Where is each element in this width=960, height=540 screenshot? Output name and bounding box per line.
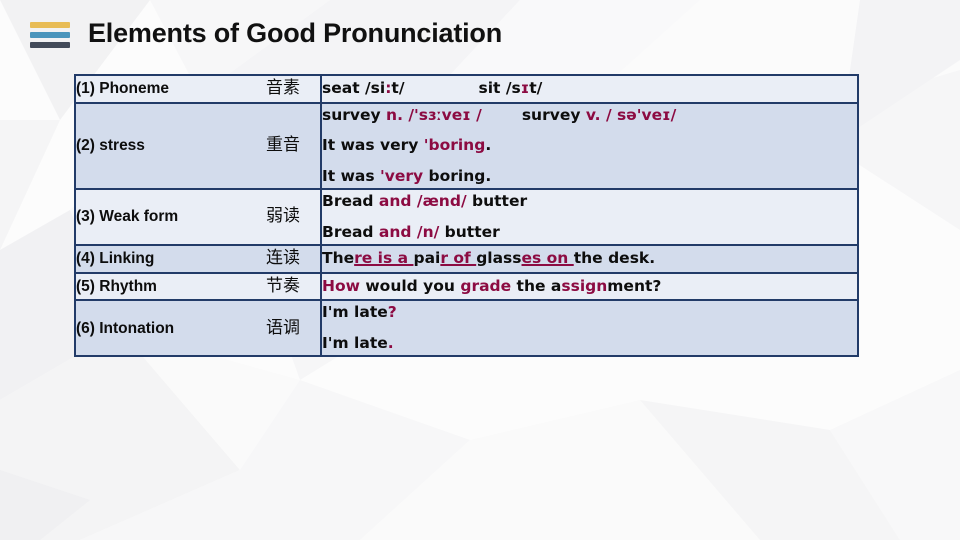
- plain-text: The: [322, 249, 354, 267]
- example-line: It was very 'boring.: [322, 134, 857, 158]
- row-label-chinese: 连读: [266, 246, 320, 272]
- plain-text: pai: [413, 249, 440, 267]
- table-row: (2) stress重音survey n. /'sɜːveɪ /survey v…: [75, 103, 858, 190]
- row-label-cell: (5) Rhythm节奏: [75, 273, 321, 301]
- row-example-cell: survey n. /'sɜːveɪ /survey v. / sə'veɪ/I…: [321, 103, 858, 190]
- plain-text: the desk.: [574, 249, 655, 267]
- plain-text: survey: [522, 106, 586, 124]
- linking-underline-text: es on: [522, 249, 574, 267]
- table-row: (4) Linking连读There is a pair of glasses …: [75, 245, 858, 273]
- example-line: seat /si:t/sit /sɪt/: [322, 77, 857, 101]
- row-label-english: (3) Weak form: [76, 205, 178, 228]
- row-label-english: (6) Intonation: [76, 317, 174, 340]
- linking-underline-text: r of: [440, 249, 476, 267]
- plain-text: the a: [511, 277, 561, 295]
- highlight-text: 'boring: [424, 136, 486, 154]
- example-line: I'm late.: [322, 332, 857, 356]
- example-line: There is a pair of glasses on the desk.: [322, 247, 857, 271]
- plain-text: Bread: [322, 223, 379, 241]
- row-label-english: (1) Phoneme: [76, 77, 169, 100]
- highlight-text: n.: [386, 106, 403, 124]
- plain-text: It was very: [322, 136, 424, 154]
- plain-text: .: [485, 136, 491, 154]
- row-label-cell: (6) Intonation语调: [75, 300, 321, 356]
- highlight-text: /'sɜːveɪ /: [408, 106, 481, 124]
- row-label-english: (5) Rhythm: [76, 275, 157, 298]
- highlight-text: ?: [388, 303, 397, 321]
- highlight-text: 'very: [380, 167, 423, 185]
- page-title: Elements of Good Pronunciation: [88, 18, 502, 49]
- row-label-chinese: 语调: [266, 316, 320, 342]
- row-example-cell: How would you grade the assignment?: [321, 273, 858, 301]
- example-line: It was 'very boring.: [322, 165, 857, 189]
- table-row: (1) Phoneme音素seat /si:t/sit /sɪt/: [75, 75, 858, 103]
- row-example-cell: I'm late?I'm late.: [321, 300, 858, 356]
- row-label-english: (2) stress: [76, 134, 145, 157]
- row-label-cell: (2) stress重音: [75, 103, 321, 190]
- plain-text: I'm late: [322, 334, 388, 352]
- plain-text: seat /si: [322, 79, 385, 97]
- highlight-text: ɪ: [521, 79, 529, 97]
- row-label-cell: (4) Linking连读: [75, 245, 321, 273]
- example-line: Bread and /ænd/ butter: [322, 190, 857, 214]
- plain-text: ment?: [607, 277, 661, 295]
- plain-text: would you: [360, 277, 460, 295]
- example-line: survey n. /'sɜːveɪ /survey v. / sə'veɪ/: [322, 104, 857, 128]
- highlight-text: and /ænd/: [379, 192, 467, 210]
- plain-text: butter: [467, 192, 528, 210]
- highlight-text: .: [388, 334, 394, 352]
- row-label-cell: (3) Weak form弱读: [75, 189, 321, 245]
- plain-text: survey: [322, 106, 386, 124]
- plain-text: butter: [439, 223, 500, 241]
- example-line: How would you grade the assignment?: [322, 275, 857, 299]
- row-label-cell: (1) Phoneme音素: [75, 75, 321, 103]
- row-example-cell: There is a pair of glasses on the desk.: [321, 245, 858, 273]
- row-label-chinese: 音素: [266, 76, 320, 102]
- row-example-cell: Bread and /ænd/ butterBread and /n/ butt…: [321, 189, 858, 245]
- three-bar-list-icon: [30, 22, 70, 48]
- plain-text: boring.: [423, 167, 491, 185]
- slide-canvas: Elements of Good Pronunciation (1) Phone…: [0, 0, 960, 540]
- row-label-english: (4) Linking: [76, 247, 154, 270]
- table-row: (5) Rhythm节奏How would you grade the assi…: [75, 273, 858, 301]
- highlight-text: and /n/: [379, 223, 439, 241]
- row-example-cell: seat /si:t/sit /sɪt/: [321, 75, 858, 103]
- table-row: (6) Intonation语调I'm late?I'm late.: [75, 300, 858, 356]
- example-line: I'm late?: [322, 301, 857, 325]
- highlight-text: v. / sə'veɪ/: [586, 106, 676, 124]
- plain-text: t/: [391, 79, 404, 97]
- plain-text: glass: [476, 249, 521, 267]
- slide-title-row: Elements of Good Pronunciation: [30, 18, 502, 49]
- highlight-text: ssign: [561, 277, 607, 295]
- example-line: Bread and /n/ butter: [322, 221, 857, 245]
- highlight-text: grade: [460, 277, 511, 295]
- row-label-chinese: 节奏: [266, 274, 320, 300]
- plain-text: I'm late: [322, 303, 388, 321]
- plain-text: t/: [529, 79, 542, 97]
- linking-underline-text: re is a: [354, 249, 413, 267]
- highlight-text: How: [322, 277, 360, 295]
- row-label-chinese: 重音: [266, 133, 320, 159]
- plain-text: It was: [322, 167, 380, 185]
- plain-text: sit /s: [479, 79, 521, 97]
- pronunciation-elements-table: (1) Phoneme音素seat /si:t/sit /sɪt/(2) str…: [74, 74, 859, 357]
- row-label-chinese: 弱读: [266, 204, 320, 230]
- table-row: (3) Weak form弱读Bread and /ænd/ butterBre…: [75, 189, 858, 245]
- plain-text: Bread: [322, 192, 379, 210]
